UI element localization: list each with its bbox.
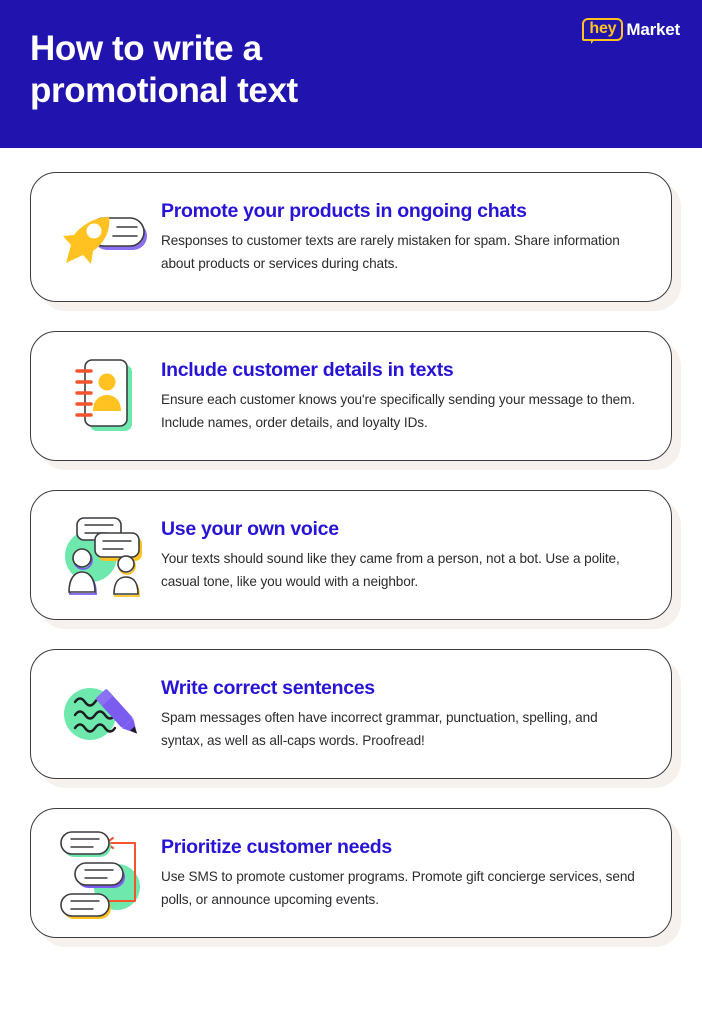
tip-card-2-title: Include customer details in texts: [161, 358, 643, 382]
tip-card-4-text: Spam messages often have incorrect gramm…: [161, 707, 643, 752]
tip-card-2-text: Ensure each customer knows you're specif…: [161, 389, 643, 434]
tip-card-3-body: Use your own voice Your texts should sou…: [161, 517, 649, 593]
rocket-pill-icon: [49, 191, 161, 283]
two-people-chat-icon: [49, 509, 161, 601]
logo-market-text: Market: [626, 20, 680, 40]
pencil-scribble-icon: [49, 668, 161, 760]
tip-card-5-body: Prioritize customer needs Use SMS to pro…: [161, 835, 649, 911]
tip-card-4: Write correct sentences Spam messages of…: [30, 649, 672, 779]
tip-card-2: Include customer details in texts Ensure…: [30, 331, 672, 461]
tip-card-2-body: Include customer details in texts Ensure…: [161, 358, 649, 434]
tip-card-1-body: Promote your products in ongoing chats R…: [161, 199, 649, 275]
tip-card-5: Prioritize customer needs Use SMS to pro…: [30, 808, 672, 938]
tips-list: Promote your products in ongoing chats R…: [0, 148, 702, 938]
contact-book-icon: [49, 350, 161, 442]
tip-card-4-body: Write correct sentences Spam messages of…: [161, 676, 649, 752]
tip-card-1-text: Responses to customer texts are rarely m…: [161, 230, 643, 275]
tip-card-5-title: Prioritize customer needs: [161, 835, 643, 859]
tip-card-4-title: Write correct sentences: [161, 676, 643, 700]
tip-card-1: Promote your products in ongoing chats R…: [30, 172, 672, 302]
page-header: How to write a promotional text hey Mark…: [0, 0, 702, 148]
tip-card-5-text: Use SMS to promote customer programs. Pr…: [161, 866, 643, 911]
tip-card-1-title: Promote your products in ongoing chats: [161, 199, 643, 223]
tip-card-3: Use your own voice Your texts should sou…: [30, 490, 672, 620]
heymarket-logo: hey Market: [582, 18, 680, 41]
logo-hey-text: hey: [589, 21, 616, 37]
speech-bubble-icon: hey: [582, 18, 623, 41]
stacked-messages-icon: [49, 827, 161, 919]
tip-card-3-title: Use your own voice: [161, 517, 643, 541]
tip-card-3-text: Your texts should sound like they came f…: [161, 548, 643, 593]
page-title: How to write a promotional text: [30, 28, 490, 112]
